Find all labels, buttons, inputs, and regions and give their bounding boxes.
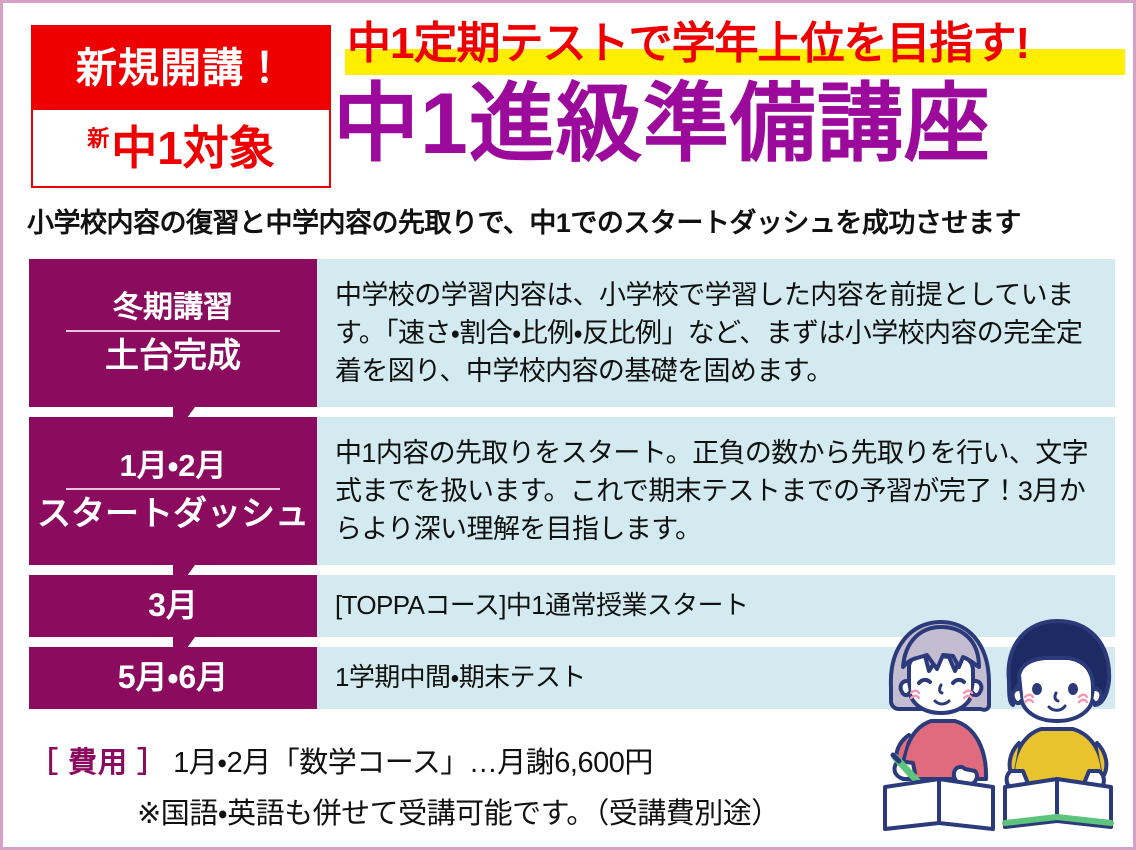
timeline-label-cell: 5月・6月 bbox=[29, 647, 317, 709]
fee-value-text: 1月・2月「数学コース」…月謝6,600円 bbox=[173, 739, 653, 781]
badge-top-banner: 新規開講！ bbox=[33, 27, 329, 110]
label-divider bbox=[66, 330, 280, 332]
students-illustration bbox=[869, 609, 1125, 841]
timeline-label-cell: 1月・2月 スタートダッシュ bbox=[29, 417, 317, 565]
timeline-body-cell: 中1内容の先取りをスタート。正負の数から先取りを行い、文字式までを扱います。これ… bbox=[317, 417, 1115, 565]
new-course-badge: 新規開講！ 新 中1対象 bbox=[31, 25, 331, 188]
timeline-body-cell: 中学校の学習内容は、小学校で学習した内容を前提としています。「速さ・割合・比例・… bbox=[317, 259, 1115, 407]
headline-text: 中1定期テストで学年上位を目指す! bbox=[347, 19, 1029, 70]
badge-top-label: 新規開講！ bbox=[76, 48, 286, 89]
timeline-label-primary: 1月・2月 bbox=[119, 449, 226, 484]
timeline-body-text: 1学期中間・期末テスト bbox=[335, 662, 586, 693]
timeline-body-text: 中1内容の先取りをスタート。正負の数から先取りを行い、文字式までを扱います。これ… bbox=[335, 434, 1101, 549]
timeline-body-text: 中学校の学習内容は、小学校で学習した内容を前提としています。「速さ・割合・比例・… bbox=[335, 276, 1101, 391]
timeline-label-secondary: 土台完成 bbox=[105, 337, 241, 375]
subtitle-text: 小学校内容の復習と中学内容の先取りで、中1でのスタートダッシュを成功させます bbox=[27, 201, 1117, 240]
header: 新規開講！ 新 中1対象 中1定期テストで学年上位を目指す! 中1進級準備講座 bbox=[3, 3, 1136, 203]
timeline-label-primary: 3月 bbox=[148, 588, 198, 624]
badge-bottom-banner: 新 中1対象 bbox=[33, 110, 329, 186]
table-row: 1月・2月 スタートダッシュ 中1内容の先取りをスタート。正負の数から先取りを行… bbox=[29, 417, 1115, 565]
fee-tag-label: ［ 費用 ］ bbox=[29, 739, 167, 781]
timeline-label-primary: 冬期講習 bbox=[113, 291, 233, 325]
timeline-body-text: [TOPPAコース]中1通常授業スタート bbox=[335, 590, 748, 621]
poster-root: 新規開講！ 新 中1対象 中1定期テストで学年上位を目指す! 中1進級準備講座 … bbox=[0, 0, 1136, 850]
page-title: 中1進級準備講座 bbox=[333, 79, 991, 169]
headline-block: 中1定期テストで学年上位を目指す! bbox=[339, 19, 1129, 81]
timeline-label-secondary: スタートダッシュ bbox=[37, 495, 309, 533]
fee-section: ［ 費用 ］ 1月・2月「数学コース」…月謝6,600円 ※国語・英語も併せて受… bbox=[29, 739, 889, 832]
fee-primary-line: ［ 費用 ］ 1月・2月「数学コース」…月謝6,600円 bbox=[29, 739, 889, 781]
badge-target-label: 中1対象 bbox=[111, 125, 275, 171]
two-students-studying-icon bbox=[869, 609, 1125, 841]
table-row: 冬期講習 土台完成 中学校の学習内容は、小学校で学習した内容を前提としています。… bbox=[29, 259, 1115, 407]
timeline-label-cell: 冬期講習 土台完成 bbox=[29, 259, 317, 407]
badge-prefix-label: 新 bbox=[87, 128, 109, 150]
fee-note-text: ※国語・英語も併せて受講可能です。（受講費別途） bbox=[137, 790, 889, 832]
timeline-label-cell: 3月 bbox=[29, 575, 317, 637]
timeline-label-primary: 5月・6月 bbox=[118, 660, 228, 696]
label-divider bbox=[66, 488, 280, 490]
